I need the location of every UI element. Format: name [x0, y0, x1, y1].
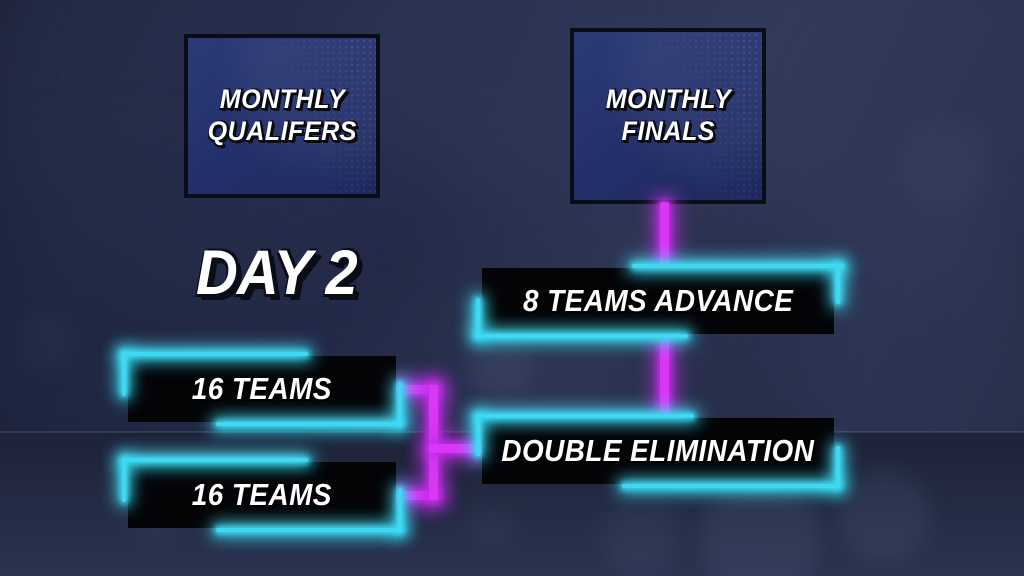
- header-qualifiers-line1: MONTHLY: [219, 84, 345, 116]
- bar-16-teams-2-label: 16 TEAMS: [192, 477, 332, 513]
- infographic-canvas: MONTHLY QUALIFERS MONTHLY FINALS DAY 2 1…: [0, 0, 1024, 576]
- header-plate-monthly-finals: MONTHLY FINALS: [570, 28, 766, 204]
- bar-16-teams-1: 16 TEAMS: [128, 356, 396, 422]
- neon-accent-right: [836, 446, 840, 488]
- neon-accent-left: [476, 298, 480, 338]
- bokeh-circle: [838, 470, 930, 562]
- header-qualifiers-line2: QUALIFERS: [207, 116, 356, 148]
- neon-accent-left: [476, 414, 480, 456]
- bar-8-teams-advance-label: 8 TEAMS ADVANCE: [523, 283, 793, 319]
- neon-accent-bottom: [476, 334, 688, 338]
- neon-accent-left: [122, 352, 126, 396]
- header-finals-line2: FINALS: [621, 116, 714, 148]
- header-finals-line1: MONTHLY: [605, 84, 731, 116]
- bokeh-circle: [900, 120, 990, 210]
- bokeh-circle: [602, 498, 680, 576]
- header-plate-monthly-qualifiers: MONTHLY QUALIFERS: [184, 34, 380, 198]
- neon-accent-right: [836, 264, 840, 304]
- bar-16-teams-1-label: 16 TEAMS: [192, 371, 332, 407]
- bar-double-elimination-label: DOUBLE ELIMINATION: [502, 433, 815, 469]
- neon-accent-bottom: [216, 422, 402, 426]
- connector-advance-to-double-elimination: [660, 330, 669, 422]
- bokeh-circle: [468, 332, 534, 398]
- bokeh-circle: [470, 504, 516, 550]
- day-label: DAY 2: [196, 237, 357, 309]
- neon-accent-top: [122, 352, 308, 356]
- bar-16-teams-2: 16 TEAMS: [128, 462, 396, 528]
- neon-accent-left: [122, 458, 126, 502]
- neon-accent-bottom: [622, 484, 840, 488]
- bar-8-teams-advance: 8 TEAMS ADVANCE: [482, 268, 834, 334]
- neon-accent-top: [122, 458, 308, 462]
- neon-accent-top: [632, 264, 844, 268]
- bokeh-circle: [16, 312, 76, 372]
- neon-accent-bottom: [216, 528, 402, 532]
- neon-accent-right: [398, 488, 402, 532]
- bracket-spine: [429, 385, 438, 500]
- bar-double-elimination: DOUBLE ELIMINATION: [482, 418, 834, 484]
- neon-accent-right: [398, 382, 402, 426]
- neon-accent-top: [476, 414, 694, 418]
